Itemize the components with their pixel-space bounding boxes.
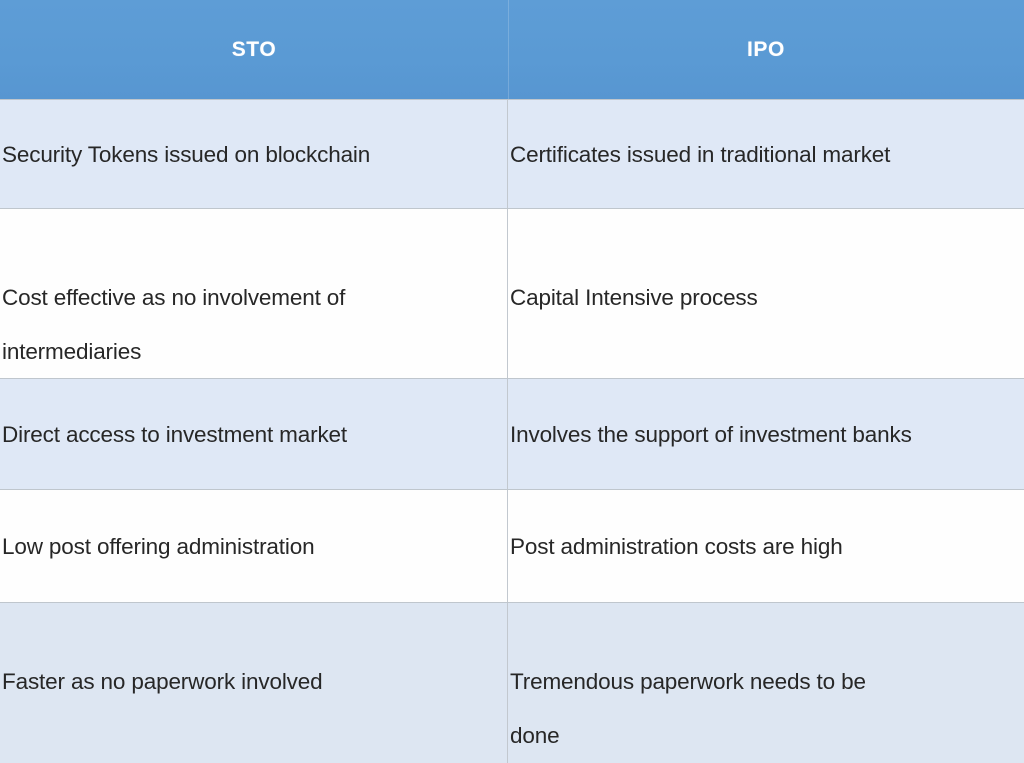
table-row: Faster as no paperwork involved Tremendo… xyxy=(0,602,1024,763)
column-header-ipo: IPO xyxy=(508,0,1024,99)
table-cell-ipo: Involves the support of investment banks xyxy=(508,379,1024,489)
column-header-ipo-label: IPO xyxy=(747,38,785,62)
cell-text: Faster as no paperwork involved xyxy=(2,603,497,709)
table-cell-sto: Direct access to investment market xyxy=(0,379,508,489)
cell-text: Certificates issued in traditional marke… xyxy=(510,100,1014,208)
table-row: Direct access to investment market Invol… xyxy=(0,378,1024,489)
table-cell-ipo: Post administration costs are high xyxy=(508,490,1024,602)
table-cell-ipo: Tremendous paperwork needs to be done xyxy=(508,603,1024,763)
table-cell-sto: Security Tokens issued on blockchain xyxy=(0,100,508,208)
table-row: Cost effective as no involvement of inte… xyxy=(0,208,1024,378)
table-cell-sto: Low post offering administration xyxy=(0,490,508,602)
table-cell-sto: Cost effective as no involvement of inte… xyxy=(0,209,508,378)
column-header-sto: STO xyxy=(0,0,508,99)
cell-text: Involves the support of investment banks xyxy=(510,379,1014,489)
table-cell-ipo: Capital Intensive process xyxy=(508,209,1024,378)
cell-text: Capital Intensive process xyxy=(510,209,1014,325)
table-cell-ipo: Certificates issued in traditional marke… xyxy=(508,100,1024,208)
table-row: Security Tokens issued on blockchain Cer… xyxy=(0,99,1024,208)
table-cell-sto: Faster as no paperwork involved xyxy=(0,603,508,763)
column-header-sto-label: STO xyxy=(232,38,277,62)
cell-text: Security Tokens issued on blockchain xyxy=(2,100,497,208)
cell-text: Direct access to investment market xyxy=(2,379,497,489)
table-row: Low post offering administration Post ad… xyxy=(0,489,1024,602)
header-column-divider xyxy=(508,0,509,99)
cell-text: Tremendous paperwork needs to be done xyxy=(510,603,1014,763)
table-body: Security Tokens issued on blockchain Cer… xyxy=(0,99,1024,763)
table-header-row: STO IPO xyxy=(0,0,1024,99)
cell-text: Low post offering administration xyxy=(2,490,497,602)
cell-text: Cost effective as no involvement of inte… xyxy=(2,209,497,378)
cell-text: Post administration costs are high xyxy=(510,490,1014,602)
comparison-table-screenshot: STO IPO Security Tokens issued on blockc… xyxy=(0,0,1024,763)
